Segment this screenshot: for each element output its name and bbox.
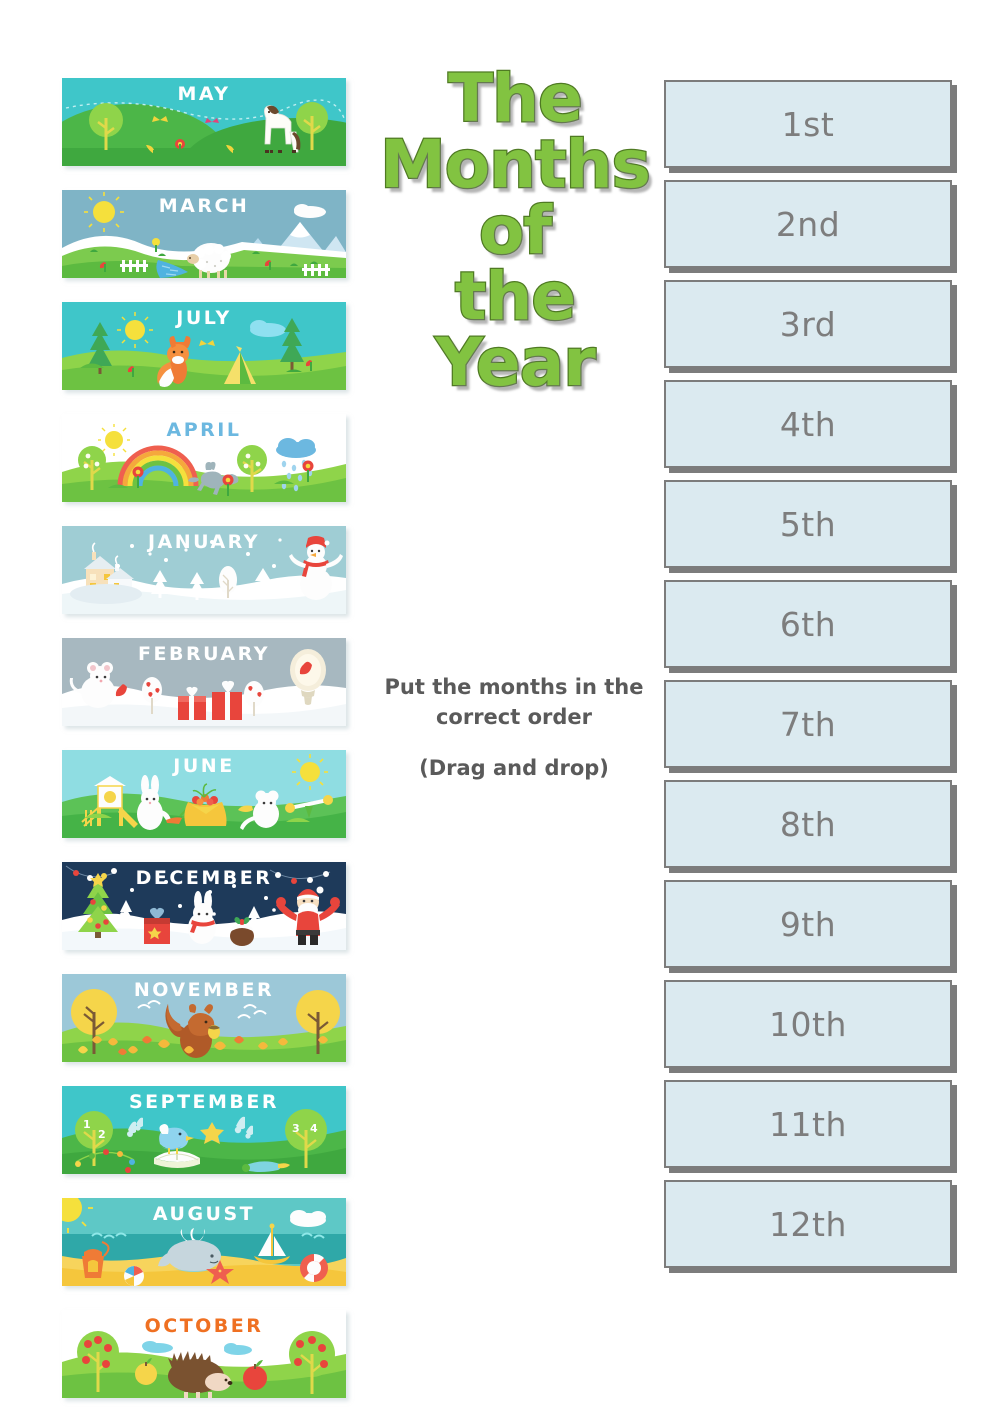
month-label: AUGUST <box>62 1204 346 1225</box>
month-card-february[interactable]: FEBRUARY <box>62 638 346 726</box>
drop-zone-label: 12th <box>769 1205 847 1244</box>
month-card-july[interactable]: JULY <box>62 302 346 390</box>
month-label: MARCH <box>62 196 346 217</box>
title-line-4: the <box>370 264 660 330</box>
month-card-december[interactable]: DECEMBER <box>62 862 346 950</box>
month-cards-column: MAY <box>62 78 346 1398</box>
instruction-sub: (Drag and drop) <box>372 753 656 783</box>
drop-zone-label: 6th <box>780 605 836 644</box>
drop-zone-8th[interactable]: 8th <box>664 780 952 868</box>
month-card-may[interactable]: MAY <box>62 78 346 166</box>
drop-zone-12th[interactable]: 12th <box>664 1180 952 1268</box>
month-card-april[interactable]: APRIL <box>62 414 346 502</box>
month-label: OCTOBER <box>62 1316 346 1337</box>
drop-zone-5th[interactable]: 5th <box>664 480 952 568</box>
month-label: APRIL <box>62 420 346 441</box>
drop-zone-label: 9th <box>780 905 836 944</box>
title-line-3: of <box>370 198 660 264</box>
svg-text:2: 2 <box>98 1128 106 1141</box>
instruction-main: Put the months in the correct order <box>385 675 644 729</box>
drop-zone-label: 1st <box>782 105 835 144</box>
drop-zone-label: 11th <box>769 1105 847 1144</box>
drop-zone-2nd[interactable]: 2nd <box>664 180 952 268</box>
month-label: JUNE <box>62 756 346 777</box>
title-line-2: Months <box>370 132 660 198</box>
month-label: DECEMBER <box>62 868 346 889</box>
drop-zone-9th[interactable]: 9th <box>664 880 952 968</box>
drop-zones-column: 1st 2nd 3rd 4th 5th 6th 7th 8th 9th 10th… <box>664 80 956 1268</box>
month-card-september[interactable]: 1 2 3 4 <box>62 1086 346 1174</box>
month-label: JANUARY <box>62 532 346 553</box>
drop-zone-label: 2nd <box>776 205 840 244</box>
instructions: Put the months in the correct order (Dra… <box>372 672 656 783</box>
drop-zone-10th[interactable]: 10th <box>664 980 952 1068</box>
page-title: The Months of the Year <box>370 66 660 396</box>
month-card-january[interactable]: JANUARY <box>62 526 346 614</box>
drop-zone-label: 10th <box>769 1005 847 1044</box>
drop-zone-4th[interactable]: 4th <box>664 380 952 468</box>
month-label: FEBRUARY <box>62 644 346 665</box>
drop-zone-1st[interactable]: 1st <box>664 80 952 168</box>
svg-text:4: 4 <box>310 1122 318 1135</box>
month-card-october[interactable]: OCTOBER <box>62 1310 346 1398</box>
title-line-5: Year <box>370 330 660 396</box>
drop-zone-label: 4th <box>780 405 836 444</box>
drop-zone-label: 5th <box>780 505 836 544</box>
month-label: JULY <box>62 308 346 329</box>
drop-zone-label: 8th <box>780 805 836 844</box>
month-card-november[interactable]: NOVEMBER <box>62 974 346 1062</box>
svg-text:3: 3 <box>292 1122 300 1135</box>
drop-zone-label: 3rd <box>780 305 836 344</box>
drop-zone-6th[interactable]: 6th <box>664 580 952 668</box>
worksheet-page: MAY <box>0 0 1000 1411</box>
drop-zone-11th[interactable]: 11th <box>664 1080 952 1168</box>
drop-zone-3rd[interactable]: 3rd <box>664 280 952 368</box>
month-card-june[interactable]: JUNE <box>62 750 346 838</box>
month-card-march[interactable]: MARCH <box>62 190 346 278</box>
month-label: NOVEMBER <box>62 980 346 1001</box>
month-label: SEPTEMBER <box>62 1092 346 1113</box>
month-card-august[interactable]: AUGUST <box>62 1198 346 1286</box>
drop-zone-label: 7th <box>780 705 836 744</box>
drop-zone-7th[interactable]: 7th <box>664 680 952 768</box>
month-label: MAY <box>62 84 346 105</box>
title-line-1: The <box>370 66 660 132</box>
svg-text:1: 1 <box>83 1118 91 1131</box>
